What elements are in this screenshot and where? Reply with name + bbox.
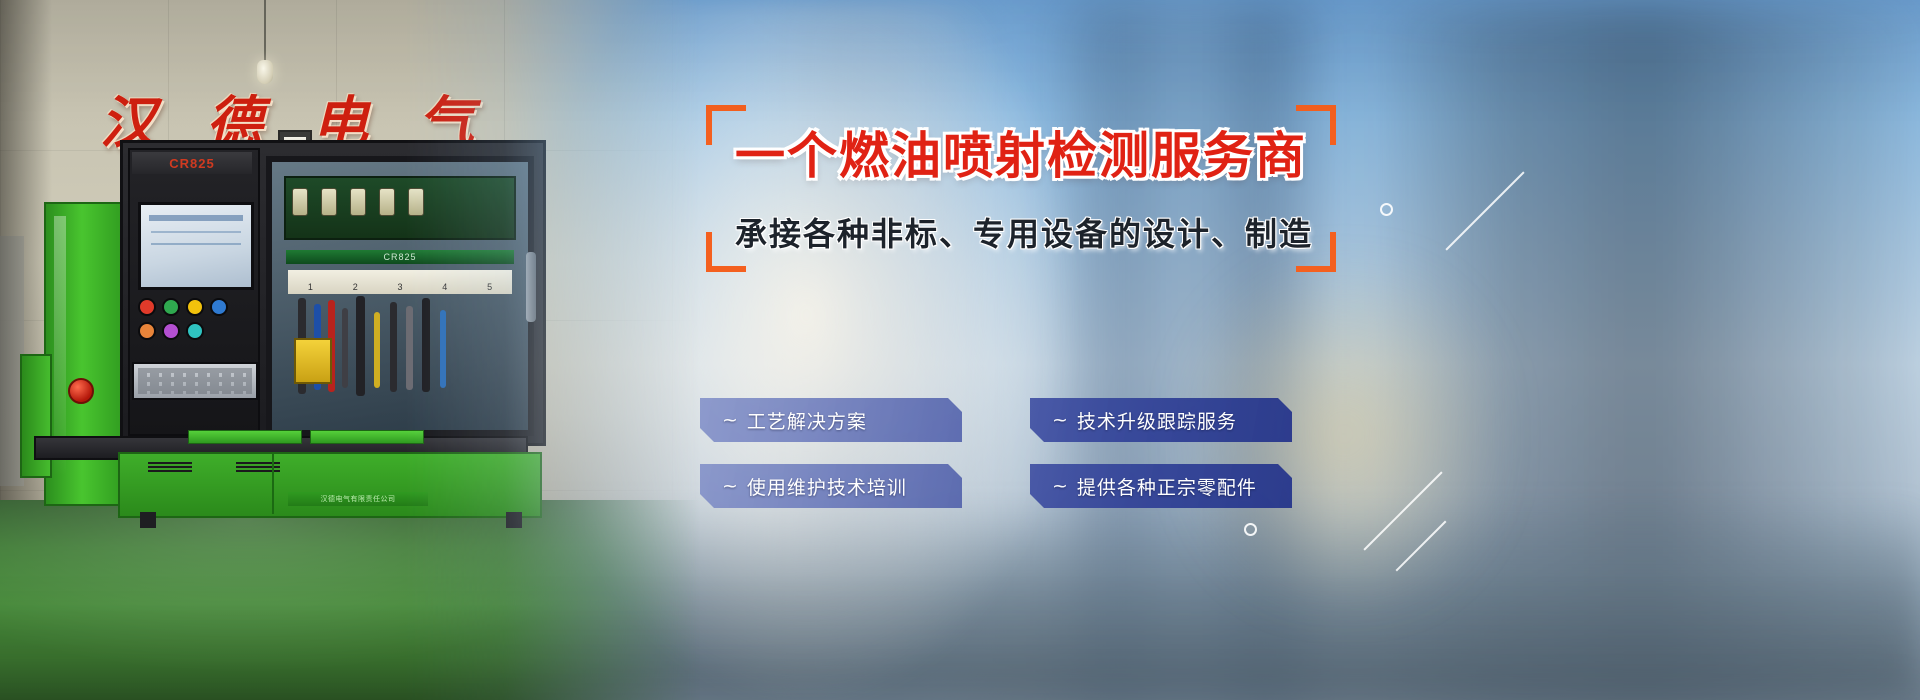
hero-banner: 汉 德 电 气 CR825 bbox=[0, 0, 1920, 700]
green-accent-bar bbox=[188, 430, 302, 444]
control-button-row[interactable] bbox=[138, 298, 250, 340]
lamp-wire bbox=[264, 0, 266, 62]
feature-tag-process-solution[interactable]: ~ 工艺解决方案 bbox=[700, 398, 962, 442]
hero-subheadline: 承接各种非标、专用设备的设计、制造 bbox=[735, 209, 1435, 255]
feature-tag-list: ~ 工艺解决方案 ~ 技术升级跟踪服务 ~ 使用维护技术培训 ~ 提供各种正宗零… bbox=[700, 398, 1320, 508]
machine-leg bbox=[506, 512, 522, 528]
control-button[interactable] bbox=[162, 298, 180, 316]
yellow-module bbox=[294, 338, 332, 384]
machine-keyboard[interactable] bbox=[132, 362, 258, 400]
control-button[interactable] bbox=[210, 298, 228, 316]
photo-fade-mask: 汉 德 电 气 CR825 bbox=[0, 0, 700, 700]
injector bbox=[408, 188, 424, 216]
workshop-photo: 汉 德 电 气 CR825 bbox=[0, 0, 700, 700]
control-button[interactable] bbox=[186, 322, 204, 340]
control-button[interactable] bbox=[138, 298, 156, 316]
feature-tag-label: 使用维护技术培训 bbox=[747, 473, 907, 500]
injector bbox=[321, 188, 337, 216]
vent-grille bbox=[148, 462, 192, 472]
feature-tag-upgrade-service[interactable]: ~ 技术升级跟踪服务 bbox=[1030, 398, 1292, 442]
feature-tag-label: 提供各种正宗零配件 bbox=[1077, 473, 1257, 500]
scale-tick: 3 bbox=[397, 282, 402, 292]
tag-tilde-mark: ~ bbox=[722, 475, 739, 497]
injector bbox=[350, 188, 366, 216]
emergency-stop-button[interactable] bbox=[68, 378, 94, 404]
common-rail-label: CR825 bbox=[286, 250, 514, 264]
machine-green-column bbox=[44, 202, 128, 506]
feature-tag-maintenance-training[interactable]: ~ 使用维护技术培训 bbox=[700, 464, 962, 508]
feature-tag-label: 工艺解决方案 bbox=[747, 407, 867, 434]
control-button[interactable] bbox=[162, 322, 180, 340]
scale-tick: 2 bbox=[353, 282, 358, 292]
machine-glass-window: CR825 1 2 3 4 5 bbox=[266, 156, 534, 436]
machine-leg bbox=[140, 512, 156, 528]
measuring-scale: 1 2 3 4 5 bbox=[288, 270, 512, 294]
tag-tilde-mark: ~ bbox=[722, 409, 739, 431]
green-accent-bar bbox=[310, 430, 424, 444]
injector bbox=[292, 188, 308, 216]
test-bench-machine: CR825 bbox=[20, 140, 540, 515]
machine-name-plate: 汉德电气有限责任公司 bbox=[288, 492, 428, 506]
injector bbox=[379, 188, 395, 216]
hero-text-block: 一个燃油喷射检测服务商 承接各种非标、专用设备的设计、制造 bbox=[735, 130, 1435, 255]
injector-row bbox=[292, 188, 424, 216]
hero-headline: 一个燃油喷射检测服务商 bbox=[735, 130, 1435, 183]
drawer-divider bbox=[272, 452, 274, 514]
machine-brand-label: CR825 bbox=[132, 152, 252, 174]
control-button[interactable] bbox=[186, 298, 204, 316]
decor-circle-dot bbox=[1244, 523, 1257, 536]
scale-tick: 4 bbox=[442, 282, 447, 292]
scale-tick: 5 bbox=[487, 282, 492, 292]
floor-sheen bbox=[0, 500, 700, 700]
cabinet-door-handle[interactable] bbox=[526, 252, 536, 322]
control-button[interactable] bbox=[138, 322, 156, 340]
tag-tilde-mark: ~ bbox=[1052, 409, 1069, 431]
tag-tilde-mark: ~ bbox=[1052, 475, 1069, 497]
feature-tag-label: 技术升级跟踪服务 bbox=[1077, 407, 1237, 434]
feature-tag-genuine-parts[interactable]: ~ 提供各种正宗零配件 bbox=[1030, 464, 1292, 508]
machine-display-screen bbox=[138, 202, 254, 290]
scale-tick: 1 bbox=[308, 282, 313, 292]
